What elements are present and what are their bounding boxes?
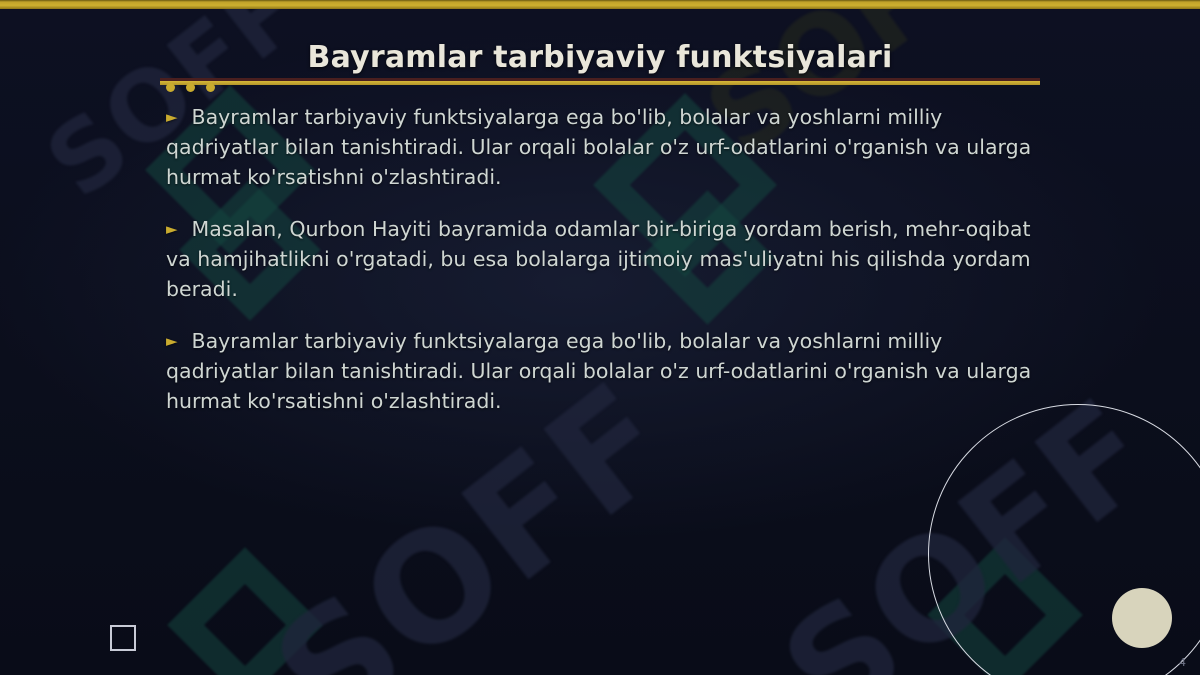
bullet-paragraph: ►Masalan, Qurbon Hayiti bayramida odamla… <box>166 214 1046 304</box>
rule-dot-icon <box>206 83 215 92</box>
bullet-paragraph-text: Bayramlar tarbiyaviy funktsiyalarga ega … <box>166 105 1031 189</box>
page-number: 4 <box>1179 656 1186 669</box>
triangle-bullet-icon: ► <box>166 332 178 350</box>
rule-dot-icon <box>166 83 175 92</box>
rule-gold-line <box>160 81 1040 85</box>
triangle-bullet-icon: ► <box>166 220 178 238</box>
title-underline-rule <box>160 78 1040 92</box>
rule-dot-icon <box>186 83 195 92</box>
bullet-paragraph-text: Bayramlar tarbiyaviy funktsiyalarga ega … <box>166 329 1031 413</box>
beige-filled-circle-decoration <box>1112 588 1172 648</box>
bullet-paragraph-text: Masalan, Qurbon Hayiti bayramida odamlar… <box>166 217 1031 301</box>
page-title: Bayramlar tarbiyaviy funktsiyalari <box>0 40 1200 75</box>
bullet-paragraph: ►Bayramlar tarbiyaviy funktsiyalarga ega… <box>166 102 1046 192</box>
triangle-bullet-icon: ► <box>166 108 178 126</box>
bullet-paragraph: ►Bayramlar tarbiyaviy funktsiyalarga ega… <box>166 326 1046 416</box>
slide-canvas: SOFF SOFF SOFF SOFF Bayramlar tarbiyaviy… <box>0 0 1200 675</box>
small-square-outline-decoration <box>110 625 136 651</box>
top-gold-bar <box>0 0 1200 9</box>
bullet-list: ►Bayramlar tarbiyaviy funktsiyalarga ega… <box>166 102 1046 438</box>
